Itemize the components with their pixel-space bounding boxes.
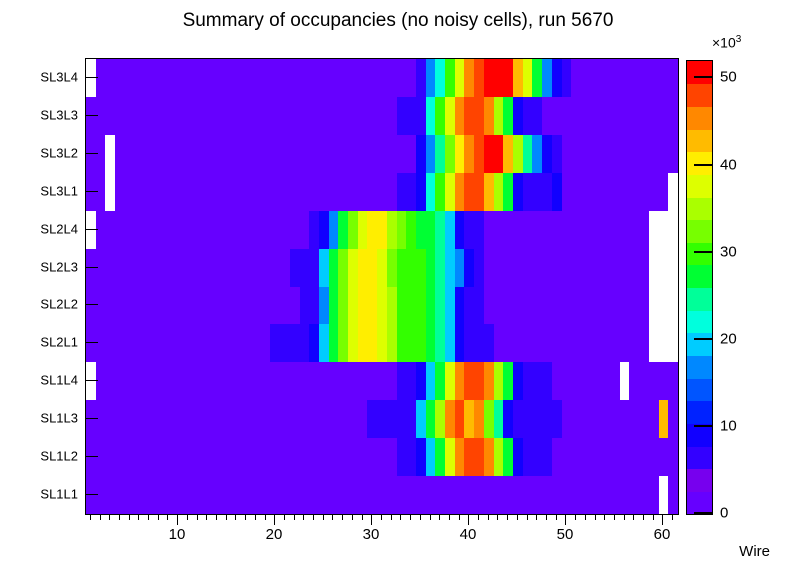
y-axis-tick bbox=[86, 304, 98, 305]
z-axis-tick bbox=[694, 76, 712, 78]
x-axis-tick bbox=[662, 514, 663, 525]
z-axis-tick-label: 10 bbox=[720, 417, 737, 434]
x-axis-tick bbox=[197, 514, 198, 520]
color-scale-bar bbox=[686, 60, 713, 515]
x-axis-tick bbox=[129, 514, 130, 520]
x-axis-tick bbox=[167, 514, 168, 520]
x-axis-tick bbox=[158, 514, 159, 520]
x-axis-tick bbox=[100, 514, 101, 520]
colorbar-band bbox=[687, 355, 712, 378]
colorbar-band bbox=[687, 242, 712, 265]
x-axis-tick bbox=[255, 514, 256, 520]
y-axis-tick-label: SL1L4 bbox=[40, 373, 78, 388]
heatmap-cell bbox=[668, 59, 678, 98]
z-axis-tick bbox=[694, 512, 712, 514]
y-axis-tick bbox=[86, 191, 98, 192]
x-axis-tick bbox=[206, 514, 207, 520]
x-axis-tick bbox=[187, 514, 188, 520]
x-axis-tick bbox=[653, 514, 654, 520]
y-axis-tick bbox=[86, 380, 98, 381]
root-canvas: Summary of occupancies (no noisy cells),… bbox=[0, 0, 796, 572]
x-axis-tick bbox=[362, 514, 363, 520]
heatmap-cell bbox=[668, 400, 678, 439]
x-axis-tick bbox=[672, 514, 673, 520]
z-axis-tick-label: 20 bbox=[720, 330, 737, 347]
z-axis-tick bbox=[694, 164, 712, 166]
x-axis-tick-label: 60 bbox=[654, 526, 671, 543]
colorbar-band bbox=[687, 265, 712, 288]
x-axis-tick bbox=[294, 514, 295, 520]
x-axis-tick bbox=[109, 514, 110, 520]
heatmap-grid bbox=[86, 59, 678, 514]
x-axis-tick bbox=[216, 514, 217, 520]
x-axis-tick bbox=[546, 514, 547, 520]
heatmap-cell bbox=[668, 97, 678, 136]
y-axis-tick bbox=[86, 229, 98, 230]
y-axis-tick bbox=[86, 267, 98, 268]
x-axis-tick bbox=[352, 514, 353, 520]
colorbar-band bbox=[687, 446, 712, 469]
y-axis-tick bbox=[86, 456, 98, 457]
x-axis-tick bbox=[323, 514, 324, 520]
x-axis-tick bbox=[614, 514, 615, 520]
x-axis-tick-label: 50 bbox=[557, 526, 574, 543]
x-axis-tick bbox=[449, 514, 450, 520]
z-axis-tick-label: 50 bbox=[720, 69, 737, 86]
x-axis-tick bbox=[381, 514, 382, 520]
x-axis-tick bbox=[313, 514, 314, 520]
x-axis-tick bbox=[468, 514, 469, 525]
x-axis-tick-label: 20 bbox=[266, 526, 283, 543]
x-axis-tick-label: 30 bbox=[363, 526, 380, 543]
y-axis-tick-label: SL1L3 bbox=[40, 411, 78, 426]
z-axis-multiplier: ×103 bbox=[712, 34, 741, 51]
colorbar-band bbox=[687, 288, 712, 311]
z-axis-tick bbox=[694, 425, 712, 427]
x-axis-tick bbox=[332, 514, 333, 520]
x-axis-tick-label: 40 bbox=[460, 526, 477, 543]
x-axis-tick bbox=[459, 514, 460, 520]
colorbar-band bbox=[687, 469, 712, 492]
x-axis-tick bbox=[517, 514, 518, 520]
x-axis-tick bbox=[400, 514, 401, 520]
colorbar-band bbox=[687, 333, 712, 356]
colorbar-band bbox=[687, 220, 712, 243]
z-axis-tick bbox=[694, 251, 712, 253]
y-axis-tick bbox=[86, 494, 98, 495]
heatmap-cell bbox=[668, 211, 678, 250]
heatmap-cell bbox=[668, 362, 678, 401]
x-axis-tick bbox=[478, 514, 479, 520]
x-axis-tick bbox=[507, 514, 508, 520]
x-axis-tick bbox=[391, 514, 392, 520]
x-axis-tick bbox=[420, 514, 421, 520]
x-axis-tick bbox=[624, 514, 625, 520]
colorbar-band bbox=[687, 197, 712, 220]
x-axis-tick bbox=[527, 514, 528, 520]
x-axis-tick bbox=[536, 514, 537, 520]
plot-frame bbox=[85, 58, 679, 515]
x-axis-tick bbox=[604, 514, 605, 520]
x-axis-tick bbox=[439, 514, 440, 520]
x-axis-tick bbox=[556, 514, 557, 520]
colorbar-band bbox=[687, 423, 712, 446]
y-axis-tick-label: SL1L2 bbox=[40, 449, 78, 464]
x-axis-tick bbox=[177, 514, 178, 525]
heatmap-cell bbox=[668, 287, 678, 326]
x-axis-tick bbox=[497, 514, 498, 520]
heatmap-cell bbox=[668, 249, 678, 288]
colorbar-band bbox=[687, 61, 712, 84]
y-axis-tick bbox=[86, 115, 98, 116]
z-axis-tick-label: 0 bbox=[720, 505, 728, 522]
x-axis-tick bbox=[633, 514, 634, 520]
y-axis-tick-label: SL1L1 bbox=[40, 487, 78, 502]
x-axis-tick bbox=[371, 514, 372, 525]
x-axis-tick bbox=[430, 514, 431, 520]
z-axis-tick-label: 30 bbox=[720, 243, 737, 260]
x-axis-tick bbox=[245, 514, 246, 520]
y-axis-tick bbox=[86, 153, 98, 154]
heatmap-cell bbox=[668, 438, 678, 477]
x-axis-tick bbox=[148, 514, 149, 520]
z-axis-tick bbox=[694, 338, 712, 340]
y-axis-tick-label: SL3L2 bbox=[40, 145, 78, 160]
x-axis-tick bbox=[342, 514, 343, 520]
heatmap-cell bbox=[668, 135, 678, 174]
colorbar-band bbox=[687, 106, 712, 129]
x-axis-tick bbox=[643, 514, 644, 520]
colorbar-band bbox=[687, 378, 712, 401]
x-axis-tick bbox=[235, 514, 236, 520]
heatmap-cell bbox=[668, 476, 678, 515]
x-axis-tick bbox=[303, 514, 304, 520]
x-axis-tick bbox=[565, 514, 566, 525]
y-axis-tick bbox=[86, 418, 98, 419]
y-axis-tick-label: SL2L1 bbox=[40, 335, 78, 350]
x-axis-tick bbox=[90, 514, 91, 520]
y-axis-tick-label: SL2L4 bbox=[40, 221, 78, 236]
colorbar-band bbox=[687, 401, 712, 424]
y-axis-tick-label: SL2L3 bbox=[40, 259, 78, 274]
heatmap-cell bbox=[668, 173, 678, 212]
colorbar-band bbox=[687, 174, 712, 197]
y-axis-tick-label: SL2L2 bbox=[40, 297, 78, 312]
y-axis-tick-label: SL3L4 bbox=[40, 69, 78, 84]
x-axis-title: Wire bbox=[739, 543, 770, 560]
y-axis-tick bbox=[86, 342, 98, 343]
x-axis-tick bbox=[138, 514, 139, 520]
x-axis-tick bbox=[226, 514, 227, 520]
x-axis-tick bbox=[595, 514, 596, 520]
heatmap-cell bbox=[668, 324, 678, 363]
x-axis-tick bbox=[274, 514, 275, 525]
colorbar-band bbox=[687, 310, 712, 333]
page-title: Summary of occupancies (no noisy cells),… bbox=[0, 10, 796, 32]
y-axis-tick bbox=[86, 77, 98, 78]
x-axis-tick bbox=[265, 514, 266, 520]
x-axis-tick bbox=[488, 514, 489, 520]
x-axis-tick bbox=[585, 514, 586, 520]
x-axis-tick bbox=[119, 514, 120, 520]
x-axis-tick-label: 10 bbox=[169, 526, 186, 543]
z-axis-tick-label: 40 bbox=[720, 156, 737, 173]
colorbar-band bbox=[687, 129, 712, 152]
colorbar-band bbox=[687, 84, 712, 107]
y-axis-labels: SL3L4SL3L3SL3L2SL3L1SL2L4SL2L3SL2L2SL2L1… bbox=[0, 58, 78, 513]
x-axis-tick bbox=[410, 514, 411, 520]
y-axis-tick-label: SL3L3 bbox=[40, 107, 78, 122]
y-axis-tick-label: SL3L1 bbox=[40, 183, 78, 198]
x-axis-tick bbox=[575, 514, 576, 520]
x-axis-tick bbox=[284, 514, 285, 520]
